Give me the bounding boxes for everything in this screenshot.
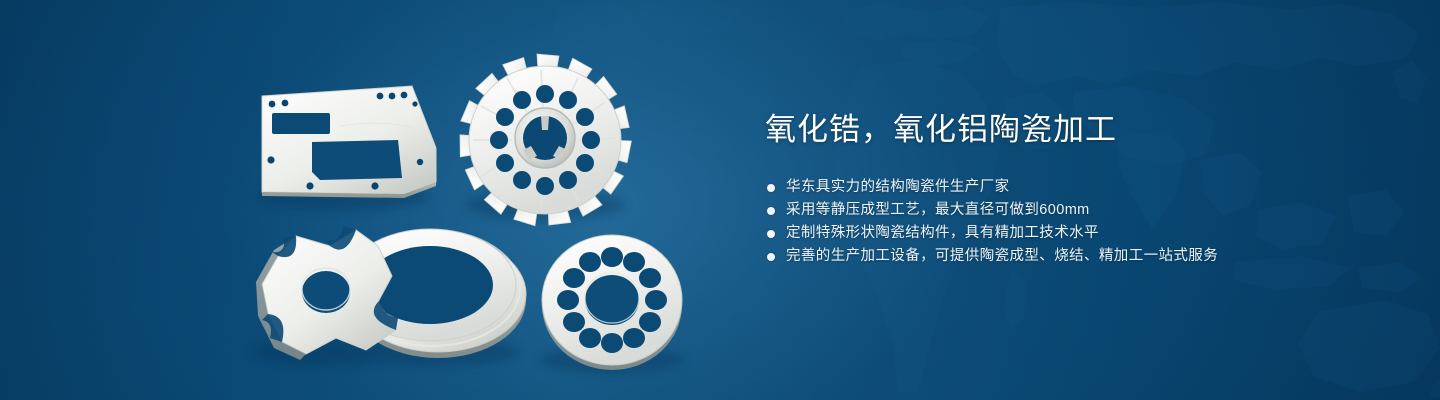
bullet-dot-icon [767,184,775,192]
bullet-dot-icon [767,207,775,215]
banner-copy: 氧化锆，氧化铝陶瓷加工 华东具实力的结构陶瓷件生产厂家 采用等静压成型工艺，最大… [765,110,1385,268]
list-item: 采用等静压成型工艺，最大直径可做到600mm [767,199,1385,222]
feature-text: 完善的生产加工设备，可提供陶瓷成型、烧结、精加工一站式服务 [786,245,1218,268]
feature-text: 采用等静压成型工艺，最大直径可做到600mm [786,199,1090,222]
list-item: 完善的生产加工设备，可提供陶瓷成型、烧结、精加工一站式服务 [767,245,1385,268]
list-item: 华东具实力的结构陶瓷件生产厂家 [767,176,1385,199]
feature-list: 华东具实力的结构陶瓷件生产厂家 采用等静压成型工艺，最大直径可做到600mm 定… [765,176,1385,268]
list-item: 定制特殊形状陶瓷结构件，具有精加工技术水平 [767,222,1385,245]
product-photo-group [0,0,760,400]
page-title: 氧化锆，氧化铝陶瓷加工 [765,110,1385,150]
hero-banner: 氧化锆，氧化铝陶瓷加工 华东具实力的结构陶瓷件生产厂家 采用等静压成型工艺，最大… [0,0,1440,400]
ceramic-cross-plate [256,226,398,360]
feature-text: 定制特殊形状陶瓷结构件，具有精加工技术水平 [786,222,1099,245]
bullet-dot-icon [767,253,775,261]
ceramic-machined-plate [262,86,436,198]
ceramic-perforated-disc [542,235,682,370]
feature-text: 华东具实力的结构陶瓷件生产厂家 [786,176,1010,199]
bullet-dot-icon [767,230,775,238]
